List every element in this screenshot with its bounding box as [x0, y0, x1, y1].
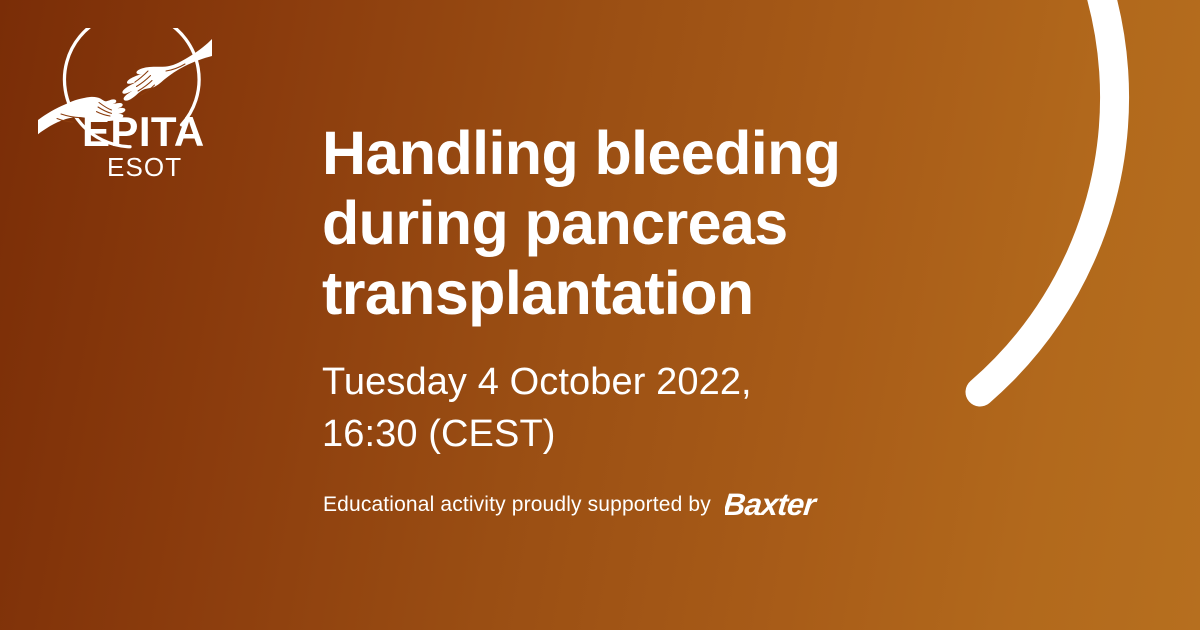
title-line-2: during pancreas — [322, 188, 942, 258]
event-datetime: Tuesday 4 October 2022, 16:30 (CEST) — [322, 356, 962, 460]
datetime-line-2: 16:30 (CEST) — [322, 408, 962, 460]
page-title: Handling bleeding during pancreas transp… — [322, 118, 942, 328]
webinar-promo-banner: EPITA ESOT Handling bleeding during panc… — [0, 0, 1200, 630]
epita-esot-logo: EPITA ESOT — [36, 28, 214, 180]
sponsor-prefix-text: Educational activity proudly supported b… — [323, 493, 711, 517]
title-line-1: Handling bleeding — [322, 118, 942, 188]
baxter-wordmark-text: Baxter — [725, 488, 819, 522]
datetime-line-1: Tuesday 4 October 2022, — [322, 356, 962, 408]
banner-content: Handling bleeding during pancreas transp… — [322, 0, 1022, 630]
logo-primary-text: EPITA — [82, 108, 205, 155]
logo-secondary-text: ESOT — [107, 152, 182, 180]
title-line-3: transplantation — [322, 258, 942, 328]
baxter-wordmark: Baxter Baxter — [725, 488, 907, 522]
sponsor-credit: Educational activity proudly supported b… — [323, 488, 907, 522]
